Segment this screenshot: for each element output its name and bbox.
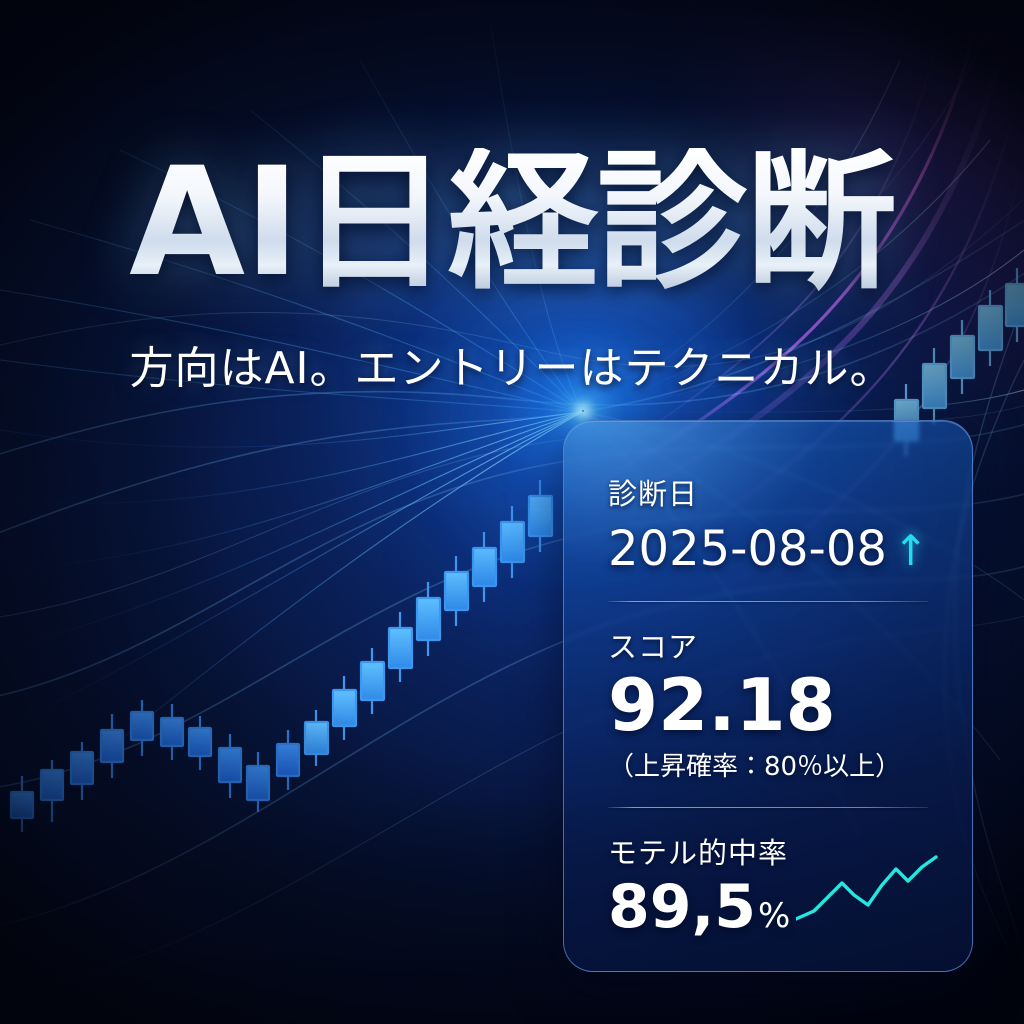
score-note: （上昇確率：80％以上） — [608, 746, 928, 783]
promo-graphic: AI日経診断 方向はAI。エントリーはテクニカル。 診断日 2025-08-08… — [0, 0, 1024, 1024]
score-row: スコア 92.18 （上昇確率：80％以上） — [608, 624, 928, 783]
accuracy-unit: % — [758, 896, 790, 936]
divider-2 — [608, 807, 928, 808]
sparkline-path — [796, 857, 936, 919]
hero-title-wrap: AI日経診断 — [0, 148, 1024, 298]
diagnosis-card: 診断日 2025-08-08↑ スコア 92.18 （上昇確率：80％以上） モ… — [563, 420, 973, 972]
diagnosis-date-value-row: 2025-08-08↑ — [608, 521, 928, 577]
accuracy-sparkline — [796, 853, 946, 925]
diagnosis-date-row: 診断日 2025-08-08↑ — [608, 471, 928, 577]
diagnosis-date-value: 2025-08-08 — [608, 521, 887, 577]
page-title: AI日経診断 — [0, 148, 1024, 298]
score-label: スコア — [608, 624, 928, 666]
divider-1 — [608, 601, 928, 602]
diagnosis-date-label: 診断日 — [608, 471, 928, 513]
trend-up-icon: ↑ — [893, 526, 928, 575]
hero-subtitle: 方向はAI。エントリーはテクニカル。 — [0, 332, 1024, 396]
accuracy-value: 89,5 — [608, 872, 756, 942]
score-value: 92.18 — [608, 668, 928, 744]
